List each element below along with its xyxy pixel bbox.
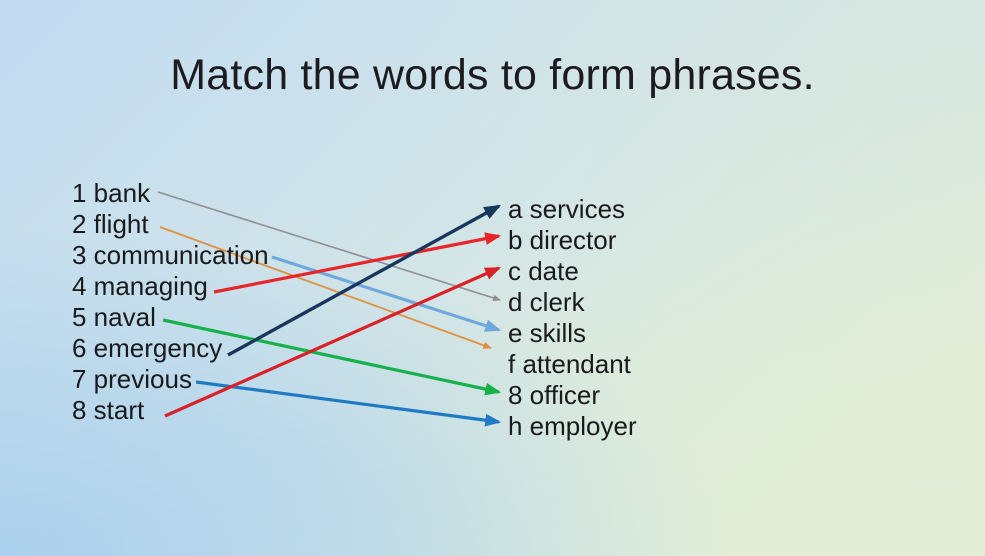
list-item[interactable]: c date xyxy=(508,256,637,287)
list-item[interactable]: 5 naval xyxy=(72,302,269,333)
list-item[interactable]: 7 previous xyxy=(72,364,269,395)
list-item[interactable]: f attendant xyxy=(508,349,637,380)
right-words-column: a services b director c date d clerk e s… xyxy=(508,194,637,442)
list-item[interactable]: 2 flight xyxy=(72,209,269,240)
list-item[interactable]: 6 emergency xyxy=(72,333,269,364)
list-item[interactable]: e skills xyxy=(508,318,637,349)
list-item[interactable]: 4 managing xyxy=(72,271,269,302)
list-item[interactable]: h employer xyxy=(508,411,637,442)
list-item[interactable]: 8 officer xyxy=(508,380,637,411)
list-item[interactable]: a services xyxy=(508,194,637,225)
list-item[interactable]: 3 communication xyxy=(72,240,269,271)
list-item[interactable]: 8 start xyxy=(72,395,269,426)
list-item[interactable]: b director xyxy=(508,225,637,256)
match-line[interactable] xyxy=(272,257,499,330)
match-line[interactable] xyxy=(228,206,499,355)
page-title: Match the words to form phrases. xyxy=(0,52,985,99)
list-item[interactable]: 1 bank xyxy=(72,178,269,209)
list-item[interactable]: d clerk xyxy=(508,287,637,318)
left-words-column: 1 bank 2 flight 3 communication 4 managi… xyxy=(72,178,269,426)
slide-canvas: Match the words to form phrases. 1 bank … xyxy=(0,0,985,556)
